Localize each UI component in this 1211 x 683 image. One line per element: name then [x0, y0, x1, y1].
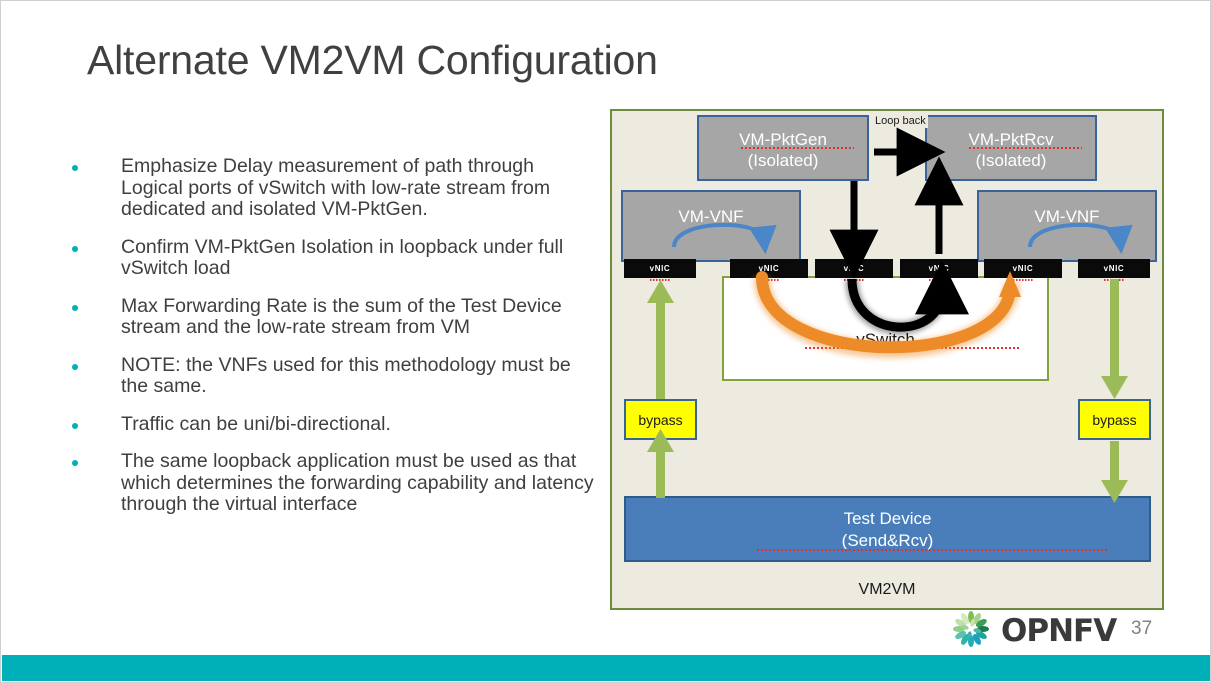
green-arrow-right-lower [1101, 441, 1128, 503]
vm-pktgen-subtitle: (Isolated) [699, 150, 867, 171]
opnfv-logo: OPNFV [945, 611, 1110, 647]
bullet-list: Emphasize Delay measurement of path thro… [67, 156, 597, 532]
vnic-port-5: vNIC [984, 259, 1062, 278]
vnic-port-4: vNIC [900, 259, 978, 278]
test-device-title: Test Device [626, 508, 1149, 530]
bullet-text: NOTE: the VNFs used for this methodology… [121, 354, 571, 398]
bullet-dot-icon [72, 423, 78, 429]
vm2vm-frame-label: VM2VM [612, 581, 1162, 599]
slide: Alternate VM2VM Configuration Emphasize … [0, 0, 1211, 683]
list-item: Confirm VM-PktGen Isolation in loopback … [67, 237, 597, 280]
list-item: Emphasize Delay measurement of path thro… [67, 156, 597, 221]
vm-pktrcv-box: VM-PktRcv (Isolated) [925, 115, 1097, 181]
bullet-dot-icon [72, 165, 78, 171]
vnic-port-6: vNIC [1078, 259, 1150, 278]
vm2vm-diagram: VM-PktGen (Isolated) VM-PktRcv (Isolated… [610, 109, 1164, 610]
vswitch-box: vSwitch [722, 276, 1049, 381]
bullet-dot-icon [72, 460, 78, 466]
page-title: Alternate VM2VM Configuration [87, 37, 658, 84]
vnic-port-3: vNIC [815, 259, 893, 278]
green-arrow-right-upper [1101, 279, 1128, 399]
loop-back-label: Loop back [873, 114, 928, 128]
opnfv-wordmark: OPNFV [1001, 613, 1116, 649]
vnic-label: vNIC [759, 259, 780, 278]
footer-accent-bar [2, 655, 1211, 681]
bullet-text: The same loopback application must be us… [121, 450, 594, 515]
vswitch-label: vSwitch [724, 330, 1047, 350]
bullet-text: Traffic can be uni/bi-directional. [121, 413, 391, 435]
bullet-dot-icon [72, 305, 78, 311]
list-item: Traffic can be uni/bi-directional. [67, 414, 597, 436]
vnic-label: vNIC [1013, 259, 1034, 278]
vnic-port-1: vNIC [624, 259, 696, 278]
vnic-label: vNIC [650, 259, 671, 278]
vm-pktgen-box: VM-PktGen (Isolated) [697, 115, 869, 181]
bullet-text: Max Forwarding Rate is the sum of the Te… [121, 295, 562, 339]
vm-pktrcv-subtitle: (Isolated) [927, 150, 1095, 171]
vm-vnf-left-box: VM-VNF [621, 190, 801, 262]
vnic-label: vNIC [844, 259, 865, 278]
page-number: 37 [1131, 618, 1152, 640]
bypass-box-left: bypass [624, 399, 697, 440]
bypass-box-right: bypass [1078, 399, 1151, 440]
list-item: The same loopback application must be us… [67, 451, 597, 516]
vnic-label: vNIC [1104, 259, 1125, 278]
bullet-dot-icon [72, 364, 78, 370]
bullet-text: Confirm VM-PktGen Isolation in loopback … [121, 236, 563, 280]
vm-vnf-left-label: VM-VNF [623, 206, 799, 227]
vnic-label: vNIC [929, 259, 950, 278]
vm-pktrcv-title: VM-PktRcv [927, 129, 1095, 150]
bullet-dot-icon [72, 246, 78, 252]
opnfv-petals-icon [945, 611, 997, 647]
bullet-text: Emphasize Delay measurement of path thro… [121, 155, 550, 220]
list-item: Max Forwarding Rate is the sum of the Te… [67, 296, 597, 339]
list-item: NOTE: the VNFs used for this methodology… [67, 355, 597, 398]
vm-pktgen-title: VM-PktGen [699, 129, 867, 150]
green-arrow-left-upper [647, 280, 674, 399]
vnic-port-2: vNIC [730, 259, 808, 278]
vm-vnf-right-box: VM-VNF [977, 190, 1157, 262]
test-device-subtitle: (Send&Rcv) [626, 530, 1149, 552]
test-device-box: Test Device (Send&Rcv) [624, 496, 1151, 562]
vm-vnf-right-label: VM-VNF [979, 206, 1155, 227]
